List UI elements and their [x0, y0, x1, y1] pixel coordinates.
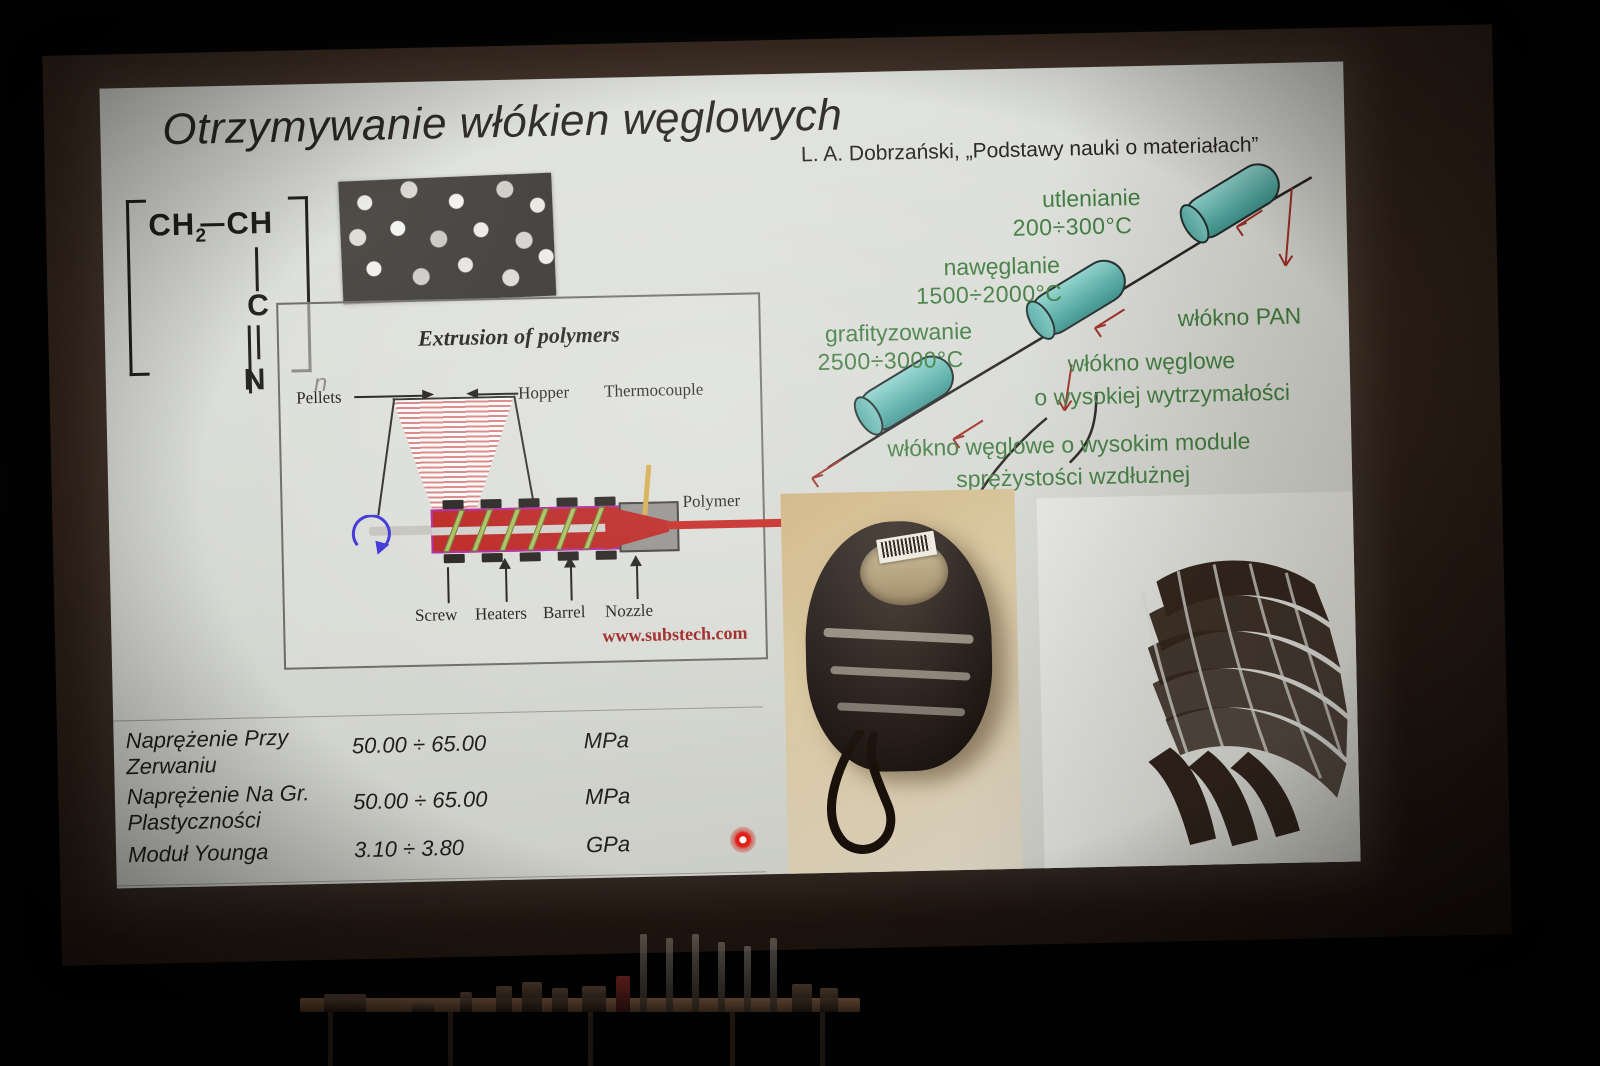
stage-label-carbonization: nawęglanie [943, 252, 1060, 281]
property-value: 50.00 ÷ 65.00 [353, 786, 488, 815]
bench-item [522, 982, 542, 1012]
formula-subscript: 2 [195, 226, 207, 247]
extrusion-label-screw: Screw [415, 605, 458, 626]
formula-unit-a: CH2 [148, 206, 207, 248]
heater-block [442, 500, 463, 509]
extrusion-label-pellets: Pellets [296, 387, 342, 408]
formula-nitrogen-atom: N [243, 363, 265, 397]
extrusion-label-hopper: Hopper [518, 382, 569, 403]
woven-carbon-fabric-photo [1037, 491, 1361, 870]
property-name: Naprężenie PrzyZerwaniu [125, 725, 289, 780]
test-tube [640, 934, 647, 1012]
bench-leg [588, 1012, 593, 1066]
property-unit: MPa [585, 783, 631, 810]
leader-pellets [354, 395, 428, 398]
extrusion-label-thermocouple: Thermocouple [604, 380, 704, 402]
lab-bench [300, 950, 860, 1066]
polymer-extrudate [667, 519, 787, 530]
leader-screw [447, 567, 449, 603]
bench-leg [820, 1012, 825, 1066]
bench-item [460, 992, 472, 1012]
arrowhead-icon [422, 387, 436, 401]
leader-barrel [570, 564, 572, 600]
stage-temp-oxidation: 200÷300°C [1012, 212, 1132, 241]
hopper-edge-left [377, 398, 395, 515]
bracket-left-icon [126, 200, 150, 376]
leader-nozzle [636, 563, 638, 599]
formula-bond-icon [200, 223, 224, 227]
label-hm-fiber-line2: sprężystości wzdłużnej [956, 461, 1190, 492]
hopper-edge-right [513, 396, 536, 512]
heater-block [520, 552, 541, 561]
bench-leg [328, 1012, 333, 1066]
bench-item [412, 1002, 434, 1012]
bench-item [582, 986, 606, 1012]
formula-vertical-bond-icon [255, 247, 259, 291]
bench-item [616, 976, 630, 1012]
bench-leg [448, 1012, 453, 1066]
polymer-pellets-photo [338, 173, 556, 305]
heater-block [518, 498, 539, 507]
label-hs-fiber-line2: o wysokiej wytrzymałości [1034, 379, 1290, 411]
formula-carbon-atom: C [247, 289, 269, 323]
projected-slide: Otrzymywanie włókien węglowych CH2 CH C … [99, 62, 1360, 889]
test-tube [770, 938, 777, 1012]
arrowhead-icon [629, 555, 643, 567]
rotation-arrow-icon [351, 514, 398, 559]
property-value: 3.10 ÷ 3.80 [354, 835, 464, 863]
leader-hopper [476, 393, 518, 395]
extrusion-label-barrel: Barrel [543, 602, 586, 623]
bench-item [496, 986, 512, 1012]
stage-temp-graphitization: 2500÷3000°C [817, 346, 964, 375]
property-name: Naprężenie Na Gr.Plastyczności [127, 780, 311, 835]
heater-block [596, 550, 617, 559]
lecture-hall-scene: Otrzymywanie włókien węglowych CH2 CH C … [0, 0, 1600, 1066]
extrusion-label-heaters: Heaters [475, 603, 527, 624]
stage-temp-carbonization: 1500÷2000°C [916, 280, 1063, 309]
substech-watermark: www.substech.com [602, 623, 747, 647]
extrusion-label-polymer: Polymer [682, 491, 740, 512]
extrusion-diagram-panel: Extrusion of polymers [276, 292, 768, 669]
test-tube [666, 938, 673, 1012]
stage-label-graphitization: grafityzowanie [825, 318, 973, 347]
property-unit: MPa [583, 727, 629, 754]
property-unit: GPa [586, 831, 631, 858]
formula-unit-b: CH [226, 205, 274, 242]
label-hs-fiber-line1: włókno węglowe [1067, 347, 1235, 377]
label-pan-fiber: włókno PAN [1177, 303, 1301, 332]
arrowhead-icon [563, 556, 577, 568]
extrusion-label-nozzle: Nozzle [605, 601, 654, 622]
test-tube [744, 946, 751, 1012]
properties-table: Naprężenie PrzyZerwaniu 50.00 ÷ 65.00 MP… [103, 714, 766, 880]
bench-leg [730, 1012, 735, 1066]
bench-item [324, 994, 366, 1012]
bench-item [820, 988, 838, 1012]
stage-label-oxidation: utlenianie [1042, 184, 1141, 212]
heater-block [594, 497, 615, 506]
hopper-shape [392, 396, 517, 515]
slide-title: Otrzymywanie włókien węglowych [162, 90, 843, 155]
arrowhead-icon [498, 558, 512, 570]
heater-block [444, 554, 465, 563]
property-value: 50.00 ÷ 65.00 [352, 730, 487, 759]
bench-item [552, 988, 568, 1012]
leader-heaters [505, 566, 507, 602]
carbon-fiber-spool-photo [780, 489, 1022, 876]
extrusion-title: Extrusion of polymers [279, 318, 759, 354]
test-tube [718, 942, 725, 1012]
heater-block [556, 497, 577, 506]
heater-block [480, 499, 501, 508]
property-name: Moduł Younga [128, 839, 269, 868]
test-tube [692, 934, 699, 1012]
bench-item [792, 984, 812, 1012]
arrowhead-icon [464, 386, 478, 400]
